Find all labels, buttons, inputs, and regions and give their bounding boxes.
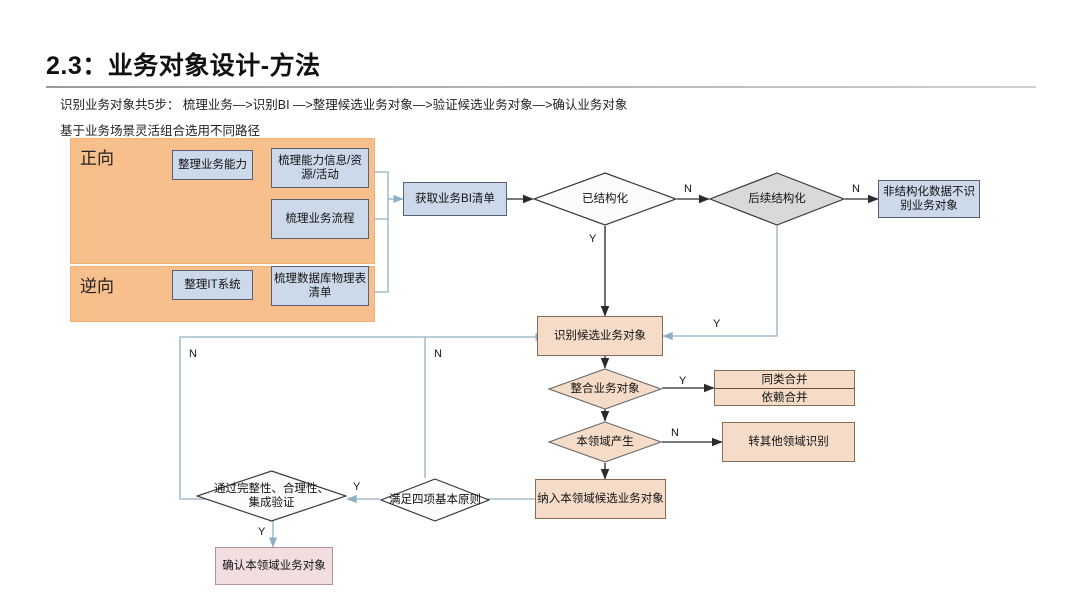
edge-label-later-y: Y <box>713 318 720 330</box>
decision-meets-four-principles[interactable]: 满足四项基本原则 <box>380 478 490 522</box>
edge-label-validation-n: N <box>189 348 197 360</box>
node-arrange-biz-capability[interactable]: 整理业务能力 <box>172 150 253 180</box>
node-label: 纳入本领域候选业务对象 <box>537 492 664 506</box>
node-label: 转其他领域识别 <box>748 435 829 449</box>
node-label: 梳理业务流程 <box>286 212 355 226</box>
node-label: 整理业务能力 <box>178 158 247 172</box>
decision-already-structured[interactable]: 已结构化 <box>533 172 677 226</box>
edge-label-domain-n: N <box>671 427 679 439</box>
node-label: 确认本领域业务对象 <box>222 559 326 573</box>
node-label: 整理IT系统 <box>184 278 240 292</box>
node-unstructured-not-identified[interactable]: 非结构化数据不识别业务对象 <box>878 180 980 218</box>
band-forward-label: 正向 <box>80 144 114 169</box>
node-label: 梳理数据库物理表清单 <box>272 272 368 301</box>
edge-label-principles-n: N <box>434 348 442 360</box>
node-sort-capability-info[interactable]: 梳理能力信息/资源/活动 <box>271 148 369 188</box>
edge-label-later-n: N <box>852 183 860 195</box>
node-arrange-it-system[interactable]: 整理IT系统 <box>172 270 253 300</box>
edge-label-validation-y: Y <box>258 526 265 538</box>
table-row: 同类合并 <box>715 371 854 389</box>
edge-label-merge-y: Y <box>679 375 686 387</box>
edge-label-principles-y: Y <box>353 481 360 493</box>
node-get-biz-bi-list[interactable]: 获取业务BI清单 <box>403 182 507 216</box>
band-reverse-label: 逆向 <box>80 272 114 297</box>
node-label: 梳理能力信息/资源/活动 <box>272 154 368 183</box>
node-transfer-other-domain[interactable]: 转其他领域识别 <box>722 422 855 462</box>
slide-canvas: 2.3：业务对象设计-方法 识别业务对象共5步： 梳理业务—>识别BI —>整理… <box>0 0 1080 608</box>
decision-passed-validation[interactable]: 通过完整性、合理性、集成验证 <box>196 470 347 522</box>
merge-options-table[interactable]: 同类合并 依赖合并 <box>714 370 855 406</box>
decision-later-structured[interactable]: 后续结构化 <box>709 172 845 226</box>
edge-label-structured-y: Y <box>589 233 596 245</box>
table-row: 依赖合并 <box>715 389 854 406</box>
node-identify-candidate-objects[interactable]: 识别候选业务对象 <box>537 316 663 356</box>
node-label: 获取业务BI清单 <box>415 192 495 206</box>
node-label: 识别候选业务对象 <box>554 329 646 343</box>
decision-produced-in-domain[interactable]: 本领域产生 <box>548 421 662 463</box>
node-include-domain-candidates[interactable]: 纳入本领域候选业务对象 <box>535 479 666 519</box>
node-confirm-domain-objects[interactable]: 确认本领域业务对象 <box>215 547 333 585</box>
node-sort-biz-process[interactable]: 梳理业务流程 <box>271 199 369 239</box>
node-label: 非结构化数据不识别业务对象 <box>879 185 979 214</box>
edge-label-structured-n: N <box>684 183 692 195</box>
node-sort-db-physical-table[interactable]: 梳理数据库物理表清单 <box>271 266 369 306</box>
decision-merge-biz-objects[interactable]: 整合业务对象 <box>548 368 662 410</box>
